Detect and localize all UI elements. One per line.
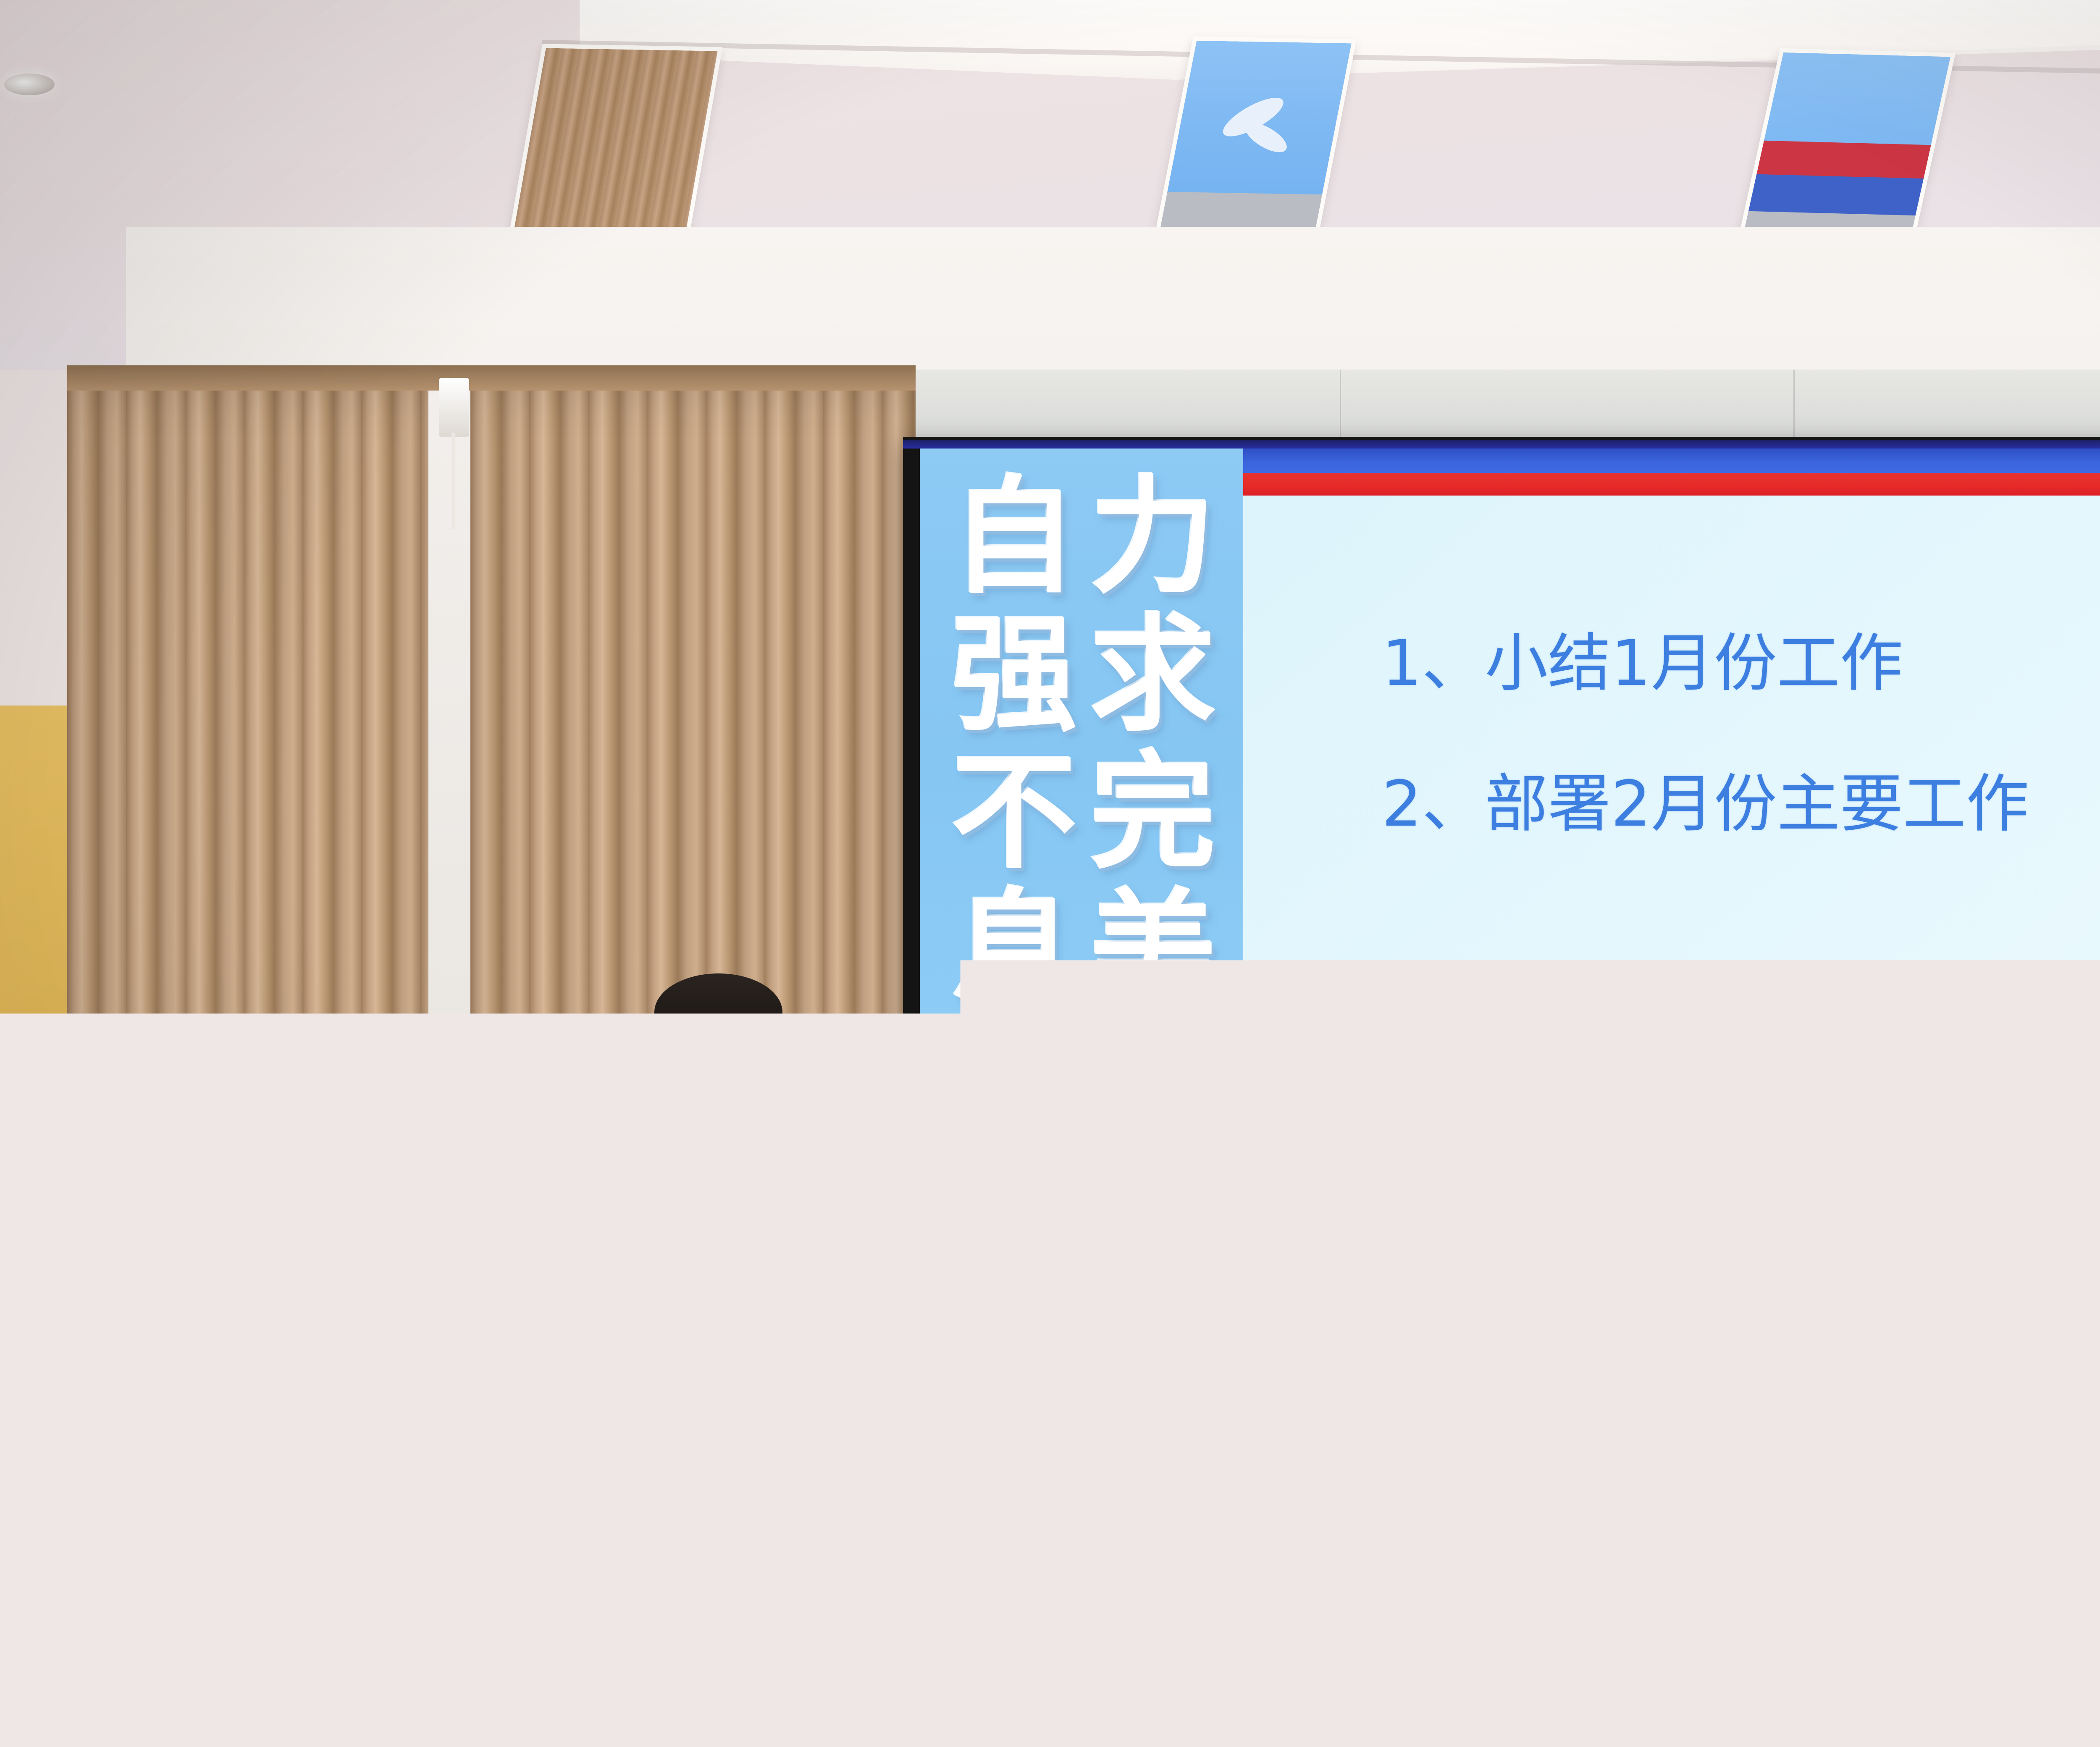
table-mug [1520, 1411, 1571, 1480]
calligraphy-char: 求 [1090, 611, 1216, 737]
curtain-header [67, 365, 916, 391]
audience-chair[interactable] [25, 1516, 244, 1642]
calligraphy-char: 自 [951, 474, 1077, 600]
slide-banner-blue [1243, 449, 2100, 473]
calligraphy-column-right: 力 求 完 美 [1090, 474, 1216, 1013]
audience-head-back [269, 1272, 445, 1453]
curtain-track-hook [439, 378, 469, 437]
slide-content-panel: SO 1、小结1月份工作 2、部署2月份主要工作 [1243, 449, 2100, 1076]
laptop-brand-label: ThinkPad [604, 1153, 654, 1163]
calligraphy-char: 美 [1090, 887, 1216, 1013]
presentation-slide: 自 强 不 息 力 求 完 美 SO 1、小结1月份工作 2、部署2月份主要工作 [920, 449, 2100, 1076]
podium-mug [920, 1095, 970, 1167]
display-bottom-bezel [903, 1076, 2100, 1138]
name-placard-text: 孙 [1701, 1440, 1732, 1484]
calligraphy-char: 不 [951, 749, 1077, 875]
curtain-weight [465, 1078, 504, 1160]
presenter-hair [654, 973, 782, 1051]
calligraphy-char: 强 [951, 611, 1077, 737]
presenter-glasses-icon [670, 1050, 760, 1074]
table-papers [184, 1466, 291, 1513]
conference-room-photo: 自 强 不 息 力 求 完 美 SO 1、小结1月份工作 2、部署2月份主要工作 [0, 0, 2100, 1747]
slide-bullet-list: 1、小结1月份工作 2、部署2月份主要工作 [1382, 629, 2100, 910]
audience-chair[interactable] [496, 1629, 790, 1747]
slide-bullet-item: 2、部署2月份主要工作 [1382, 770, 2100, 839]
table-mug-coaster [1515, 1473, 1576, 1487]
curtain-pull-cord [451, 433, 455, 529]
calligraphy-char: 息 [951, 887, 1077, 1013]
display-top-bezel [903, 440, 2100, 449]
table-mug-lid [1596, 1445, 1646, 1477]
slide-calligraphy-panel: 自 强 不 息 力 求 完 美 [920, 449, 1243, 1076]
calligraphy-column-left: 自 强 不 息 [951, 474, 1077, 1013]
water-bottle-cap [227, 1651, 265, 1666]
podium-mug-rim [918, 1092, 972, 1104]
slide-bullet-item: 1、小结1月份工作 [1382, 629, 2100, 698]
water-bottle [223, 1659, 269, 1747]
audience-head-back [1829, 1172, 1997, 1352]
ceiling-downlight-icon [4, 73, 55, 95]
table-mug-rim [1519, 1408, 1572, 1420]
audience-head-back [655, 1398, 832, 1579]
calligraphy-char: 力 [1090, 474, 1216, 600]
display-mount-rail [903, 1138, 2100, 1155]
audience-torso [1567, 1621, 2012, 1747]
calligraphy-char: 完 [1090, 749, 1216, 875]
slide-banner-red [1243, 473, 2100, 496]
